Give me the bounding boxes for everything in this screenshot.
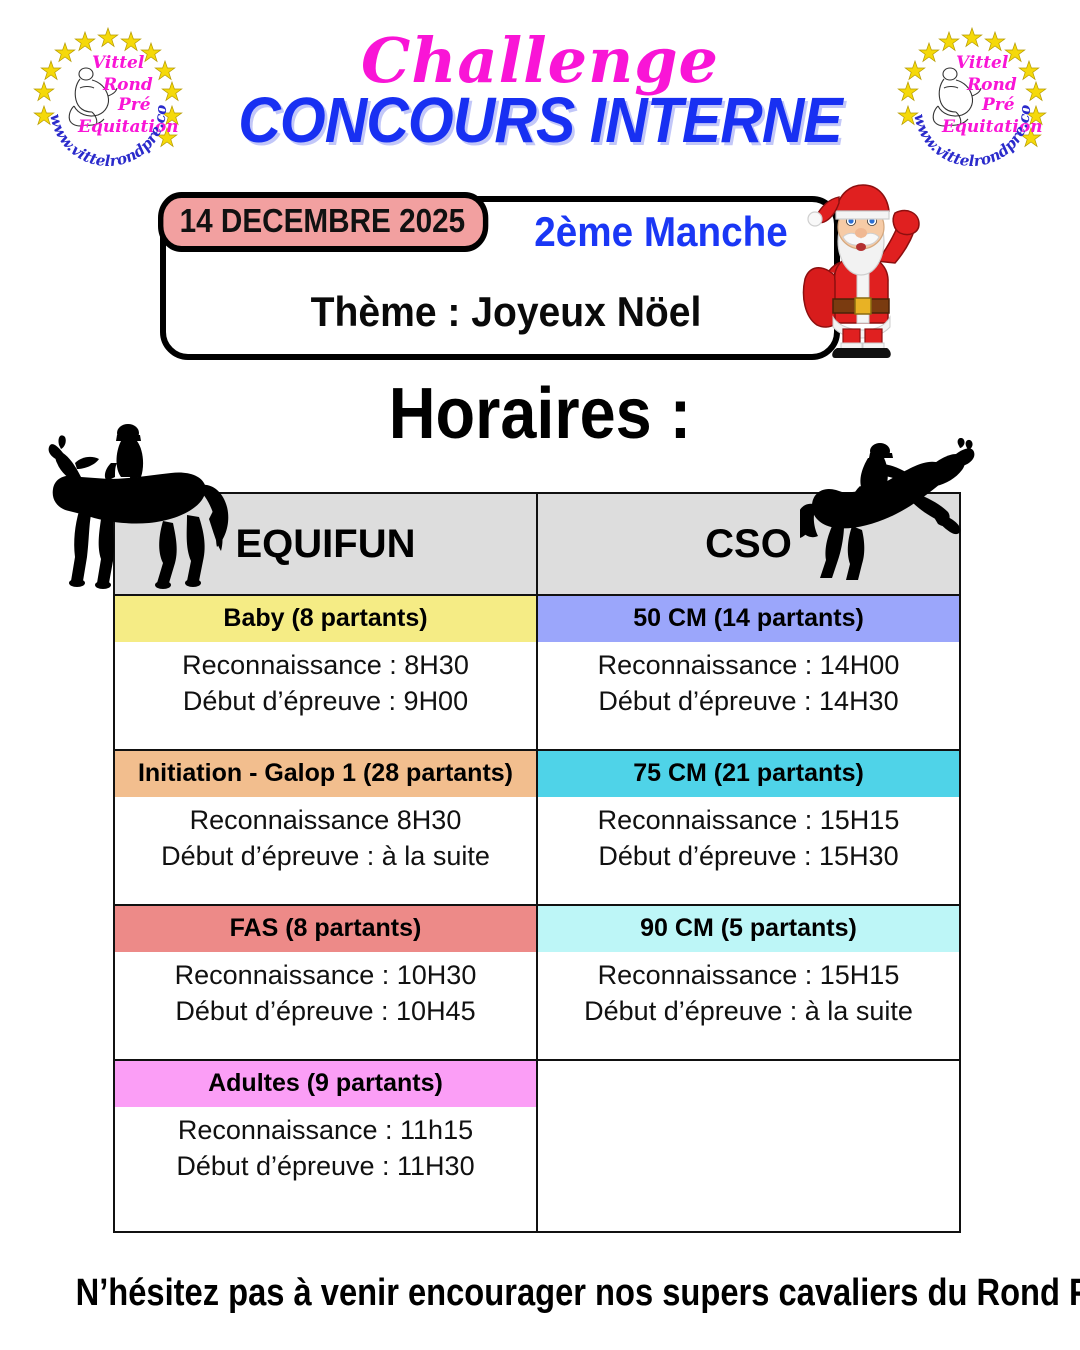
date-badge: 14 DECEMBRE 2025 xyxy=(158,192,489,252)
class-name-badge: Baby (8 partants) xyxy=(115,596,536,642)
debut-epreuve-time: Début d’épreuve : 9H00 xyxy=(115,683,536,719)
table-row: FAS (8 partants) Reconnaissance : 10H30 … xyxy=(114,905,960,1060)
class-name-badge: 50 CM (14 partants) xyxy=(538,596,959,642)
debut-epreuve-time: Début d’épreuve : 10H45 xyxy=(115,993,536,1029)
debut-epreuve-time: Début d’épreuve : à la suite xyxy=(115,838,536,874)
equifun-cell-initiation: Initiation - Galop 1 (28 partants) Recon… xyxy=(114,750,537,905)
schedule-table: EQUIFUN CSO Baby (8 partants) Reconnaiss… xyxy=(113,492,961,1233)
cso-cell-90cm: 90 CM (5 partants) Reconnaissance : 15H1… xyxy=(537,905,960,1060)
cso-cell-empty xyxy=(537,1060,960,1232)
cso-cell-75cm: 75 CM (21 partants) Reconnaissance : 15H… xyxy=(537,750,960,905)
table-row: Baby (8 partants) Reconnaissance : 8H30 … xyxy=(114,595,960,750)
debut-epreuve-time: Début d’épreuve : 14H30 xyxy=(538,683,959,719)
cso-cell-50cm: 50 CM (14 partants) Reconnaissance : 14H… xyxy=(537,595,960,750)
debut-epreuve-time: Début d’épreuve : 15H30 xyxy=(538,838,959,874)
concours-interne-title: CONCOURS INTERNE xyxy=(43,88,1037,152)
reconnaissance-time: Reconnaissance : 8H30 xyxy=(115,642,536,683)
equifun-cell-baby: Baby (8 partants) Reconnaissance : 8H30 … xyxy=(114,595,537,750)
equifun-cell-adultes: Adultes (9 partants) Reconnaissance : 11… xyxy=(114,1060,537,1232)
class-name-badge: FAS (8 partants) xyxy=(115,906,536,952)
class-name-badge: 75 CM (21 partants) xyxy=(538,751,959,797)
class-name-badge: 90 CM (5 partants) xyxy=(538,906,959,952)
reconnaissance-time: Reconnaissance : 10H30 xyxy=(115,952,536,993)
equifun-cell-fas: FAS (8 partants) Reconnaissance : 10H30 … xyxy=(114,905,537,1060)
class-name-badge: Adultes (9 partants) xyxy=(115,1061,536,1107)
santa-claus-icon xyxy=(795,183,925,363)
table-row: Initiation - Galop 1 (28 partants) Recon… xyxy=(114,750,960,905)
reconnaissance-time: Reconnaissance : 11h15 xyxy=(115,1107,536,1148)
debut-epreuve-time: Début d’épreuve : 11H30 xyxy=(115,1148,536,1184)
event-info-box: 14 DECEMBRE 2025 2ème Manche Thème : Joy… xyxy=(160,196,840,360)
debut-epreuve-time: Début d’épreuve : à la suite xyxy=(538,993,959,1029)
class-name-badge: Initiation - Galop 1 (28 partants) xyxy=(115,751,536,797)
manche-label: 2ème Manche xyxy=(509,208,813,256)
theme-label: Thème : Joyeux Nöel xyxy=(218,288,795,336)
reconnaissance-time: Reconnaissance : 15H15 xyxy=(538,797,959,838)
table-row: Adultes (9 partants) Reconnaissance : 11… xyxy=(114,1060,960,1232)
encouragement-footer: N’hésitez pas à venir encourager nos sup… xyxy=(76,1272,1005,1315)
poster-page: Vittel Rond Pré Equitation www.vittelron… xyxy=(0,0,1080,1350)
jumping-horse-silhouette-icon xyxy=(800,438,995,588)
reconnaissance-time: Reconnaissance : 15H15 xyxy=(538,952,959,993)
challenge-title: Challenge xyxy=(0,30,1080,92)
reconnaissance-time: Reconnaissance : 14H00 xyxy=(538,642,959,683)
dressage-horse-silhouette-icon xyxy=(45,415,250,590)
reconnaissance-time: Reconnaissance 8H30 xyxy=(115,797,536,838)
